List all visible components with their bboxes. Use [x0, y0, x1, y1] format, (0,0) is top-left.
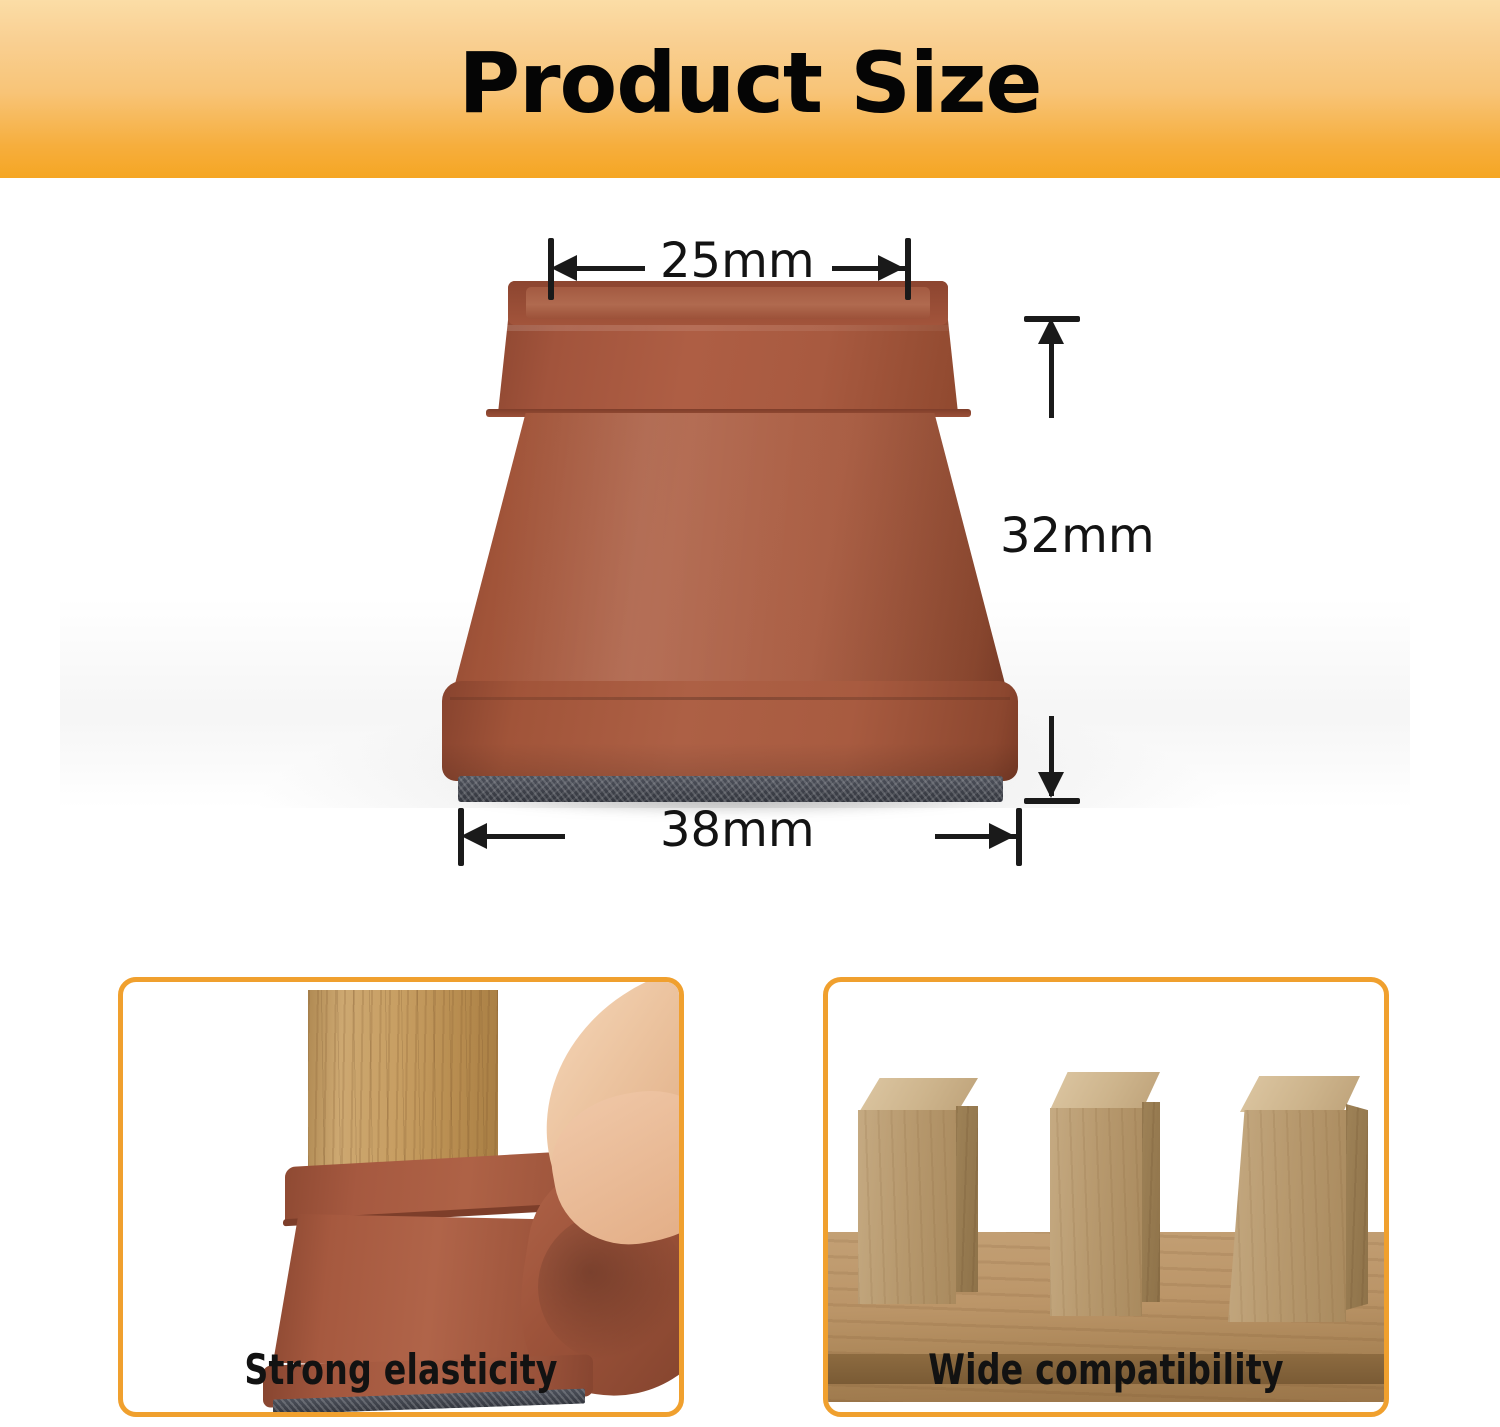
dimension-label-bottom-width: 38mm: [660, 802, 815, 858]
leader-top: [1049, 336, 1054, 418]
feature-panel-strong-elasticity[interactable]: Strong elasticity: [118, 977, 684, 1417]
panel-caption-strong-elasticity: Strong elasticity: [156, 1345, 645, 1394]
product-stage: 25mm 32mm 38mm: [0, 178, 1500, 958]
arrowhead-left: [461, 823, 487, 849]
cap-flange-seam: [450, 697, 1010, 700]
dimension-label-top-width: 25mm: [660, 233, 815, 289]
feature-panel-wide-compatibility[interactable]: Wide compatibility: [823, 977, 1389, 1417]
cap-collar-highlight: [504, 325, 952, 331]
arrowhead-left: [551, 255, 577, 281]
block-side-face: [1142, 1102, 1160, 1302]
panel-caption-wide-compatibility: Wide compatibility: [861, 1345, 1350, 1394]
block-side-face: [956, 1106, 978, 1292]
header-banner: Product Size: [0, 0, 1500, 178]
tick-bottom: [1024, 798, 1080, 804]
leader-left: [570, 266, 645, 271]
block-side-face: [1346, 1104, 1368, 1310]
block-front-face: [1050, 1108, 1142, 1316]
arrowhead-right: [878, 255, 904, 281]
block-front-face: [858, 1110, 956, 1304]
block-top-face: [1240, 1076, 1360, 1112]
leader-left: [480, 834, 565, 839]
product-illustration: [430, 273, 1030, 813]
arrowhead-right: [989, 823, 1015, 849]
arrowhead-down: [1038, 772, 1064, 798]
cap-cavity-inner: [526, 287, 930, 319]
felt-pad: [458, 776, 1003, 802]
cap-body-highlight: [450, 413, 1010, 703]
arrowhead-up: [1038, 318, 1064, 344]
wooden-leg: [308, 990, 498, 1170]
block-front-face: [1228, 1110, 1346, 1322]
page-title: Product Size: [0, 0, 1500, 178]
dimension-label-height: 32mm: [1000, 508, 1155, 564]
